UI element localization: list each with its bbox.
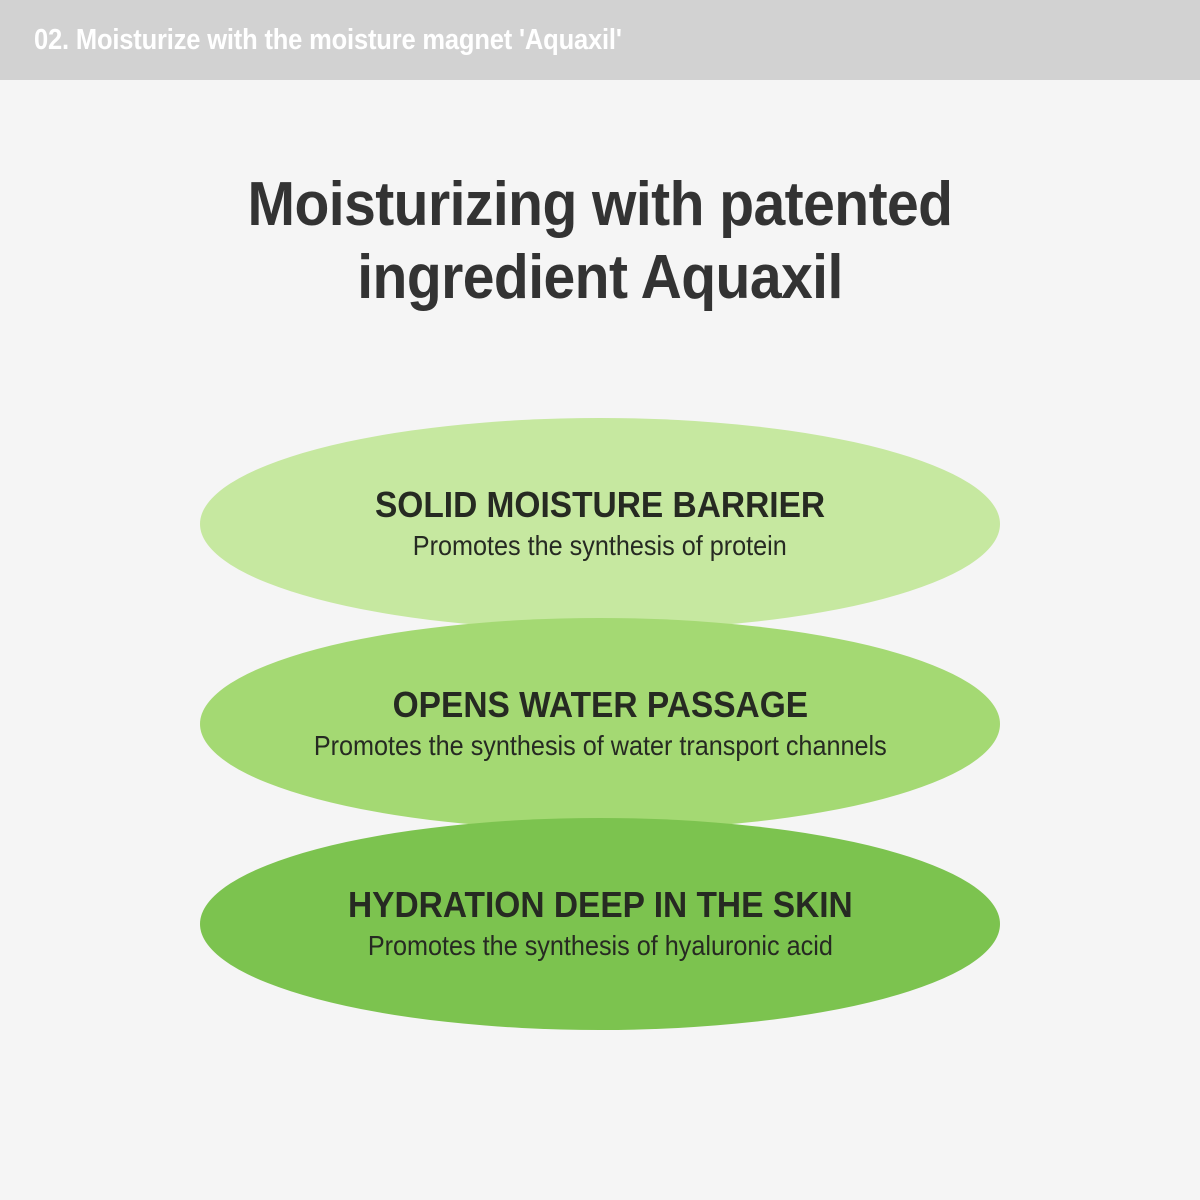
- benefit-ellipse-hydration-deep-in-the-skin: HYDRATION DEEP IN THE SKIN Promotes the …: [200, 818, 1000, 1030]
- benefit-ellipse-stack: SOLID MOISTURE BARRIER Promotes the synt…: [0, 0, 1200, 1200]
- benefit-title: HYDRATION DEEP IN THE SKIN: [348, 886, 853, 924]
- benefit-ellipse-opens-water-passage: OPENS WATER PASSAGE Promotes the synthes…: [200, 618, 1000, 830]
- benefit-ellipse-solid-moisture-barrier: SOLID MOISTURE BARRIER Promotes the synt…: [200, 418, 1000, 630]
- benefit-subtitle: Promotes the synthesis of hyaluronic aci…: [367, 930, 832, 962]
- benefit-subtitle: Promotes the synthesis of protein: [413, 530, 787, 562]
- benefit-title: SOLID MOISTURE BARRIER: [375, 486, 825, 524]
- benefit-subtitle: Promotes the synthesis of water transpor…: [314, 730, 887, 762]
- benefit-title: OPENS WATER PASSAGE: [392, 686, 807, 724]
